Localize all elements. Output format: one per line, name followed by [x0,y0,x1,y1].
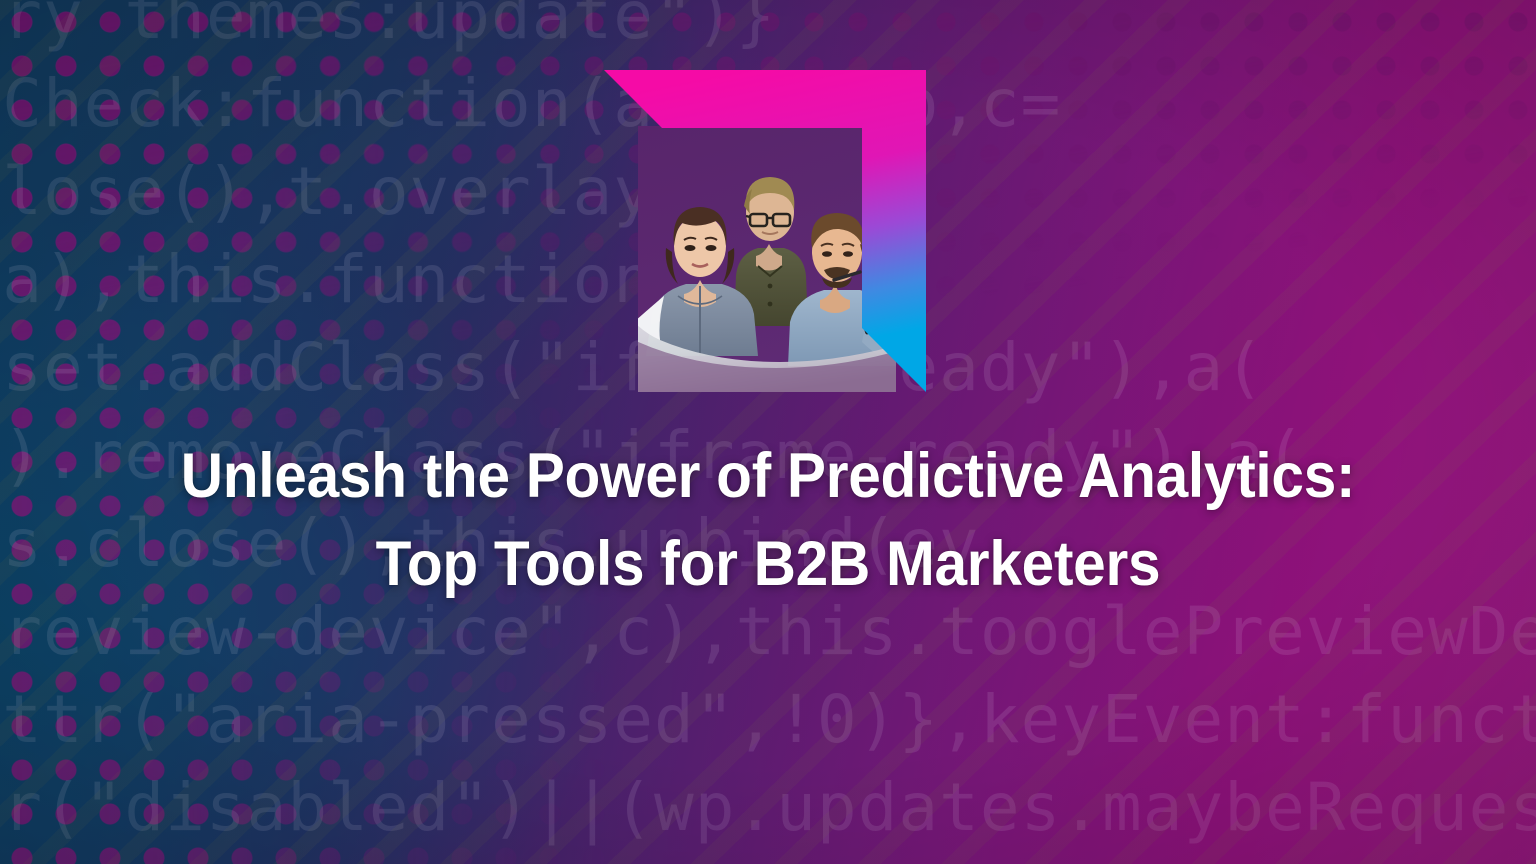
title-line-1: Unleash the Power of Predictive Analytic… [137,432,1398,520]
slide-canvas: ssary themes:update")}otoCheck:function(… [0,0,1536,864]
title-line-2: Top Tools for B2B Marketers [137,520,1398,608]
hero-logo-graphic [604,70,926,392]
arrow-chevron-icon [604,70,926,392]
slide-title: Unleash the Power of Predictive Analytic… [0,432,1536,608]
